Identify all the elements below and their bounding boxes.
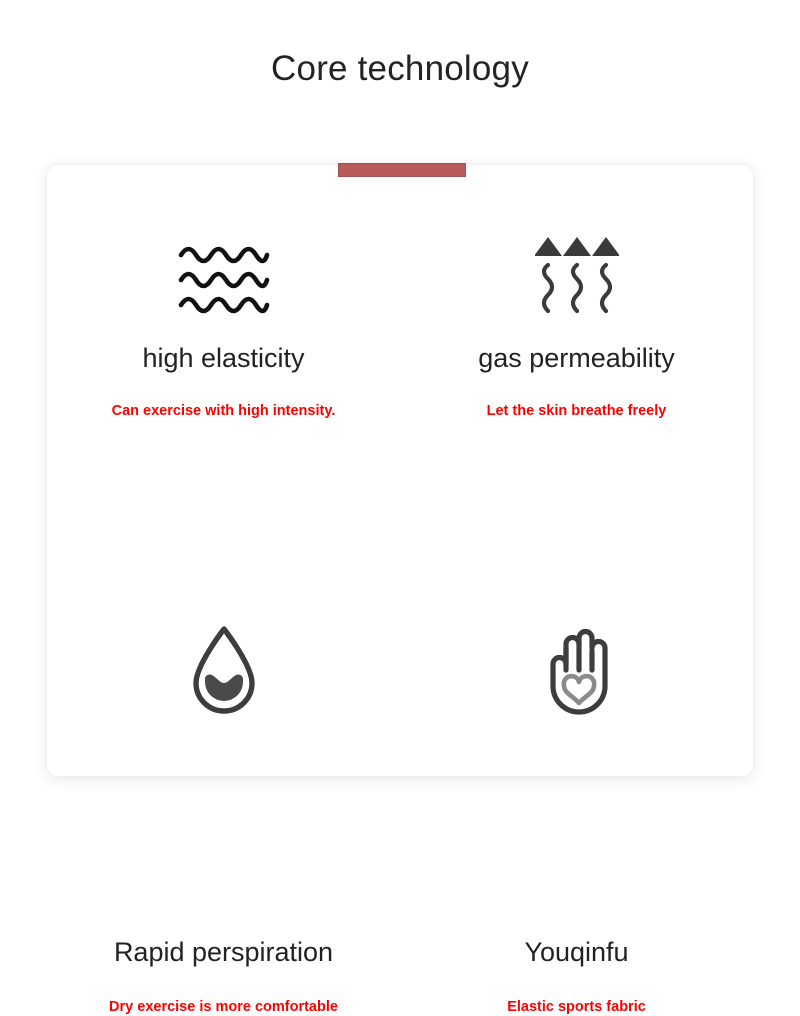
feature-title: Rapid perspiration: [47, 936, 400, 968]
feature-cell-gas-permeability[interactable]: gas permeability Let the skin breathe fr…: [400, 165, 753, 470]
page-title: Core technology: [0, 48, 800, 90]
feature-subtitle: Let the skin breathe freely: [400, 403, 753, 420]
hand-with-heart-icon: [400, 610, 753, 720]
feature-cell-youqinfu[interactable]: Youqinfu Elastic sports fabric: [400, 470, 753, 775]
feature-subtitle: Elastic sports fabric: [400, 999, 753, 1016]
feature-title: high elasticity: [47, 342, 400, 374]
feature-title: Youqinfu: [400, 936, 753, 968]
water-drop-icon: [47, 610, 400, 720]
feature-cell-high-elasticity[interactable]: high elasticity Can exercise with high i…: [47, 165, 400, 470]
feature-title: gas permeability: [400, 342, 753, 374]
core-technology-card: high elasticity Can exercise with high i…: [47, 165, 753, 776]
feature-subtitle: Dry exercise is more comfortable: [47, 999, 400, 1016]
wavy-lines-icon: [47, 215, 400, 315]
upward-air-arrows-icon: [400, 215, 753, 315]
feature-subtitle: Can exercise with high intensity.: [47, 403, 400, 420]
feature-cell-rapid-perspiration[interactable]: Rapid perspiration Dry exercise is more …: [47, 470, 400, 775]
feature-grid: high elasticity Can exercise with high i…: [47, 165, 753, 776]
